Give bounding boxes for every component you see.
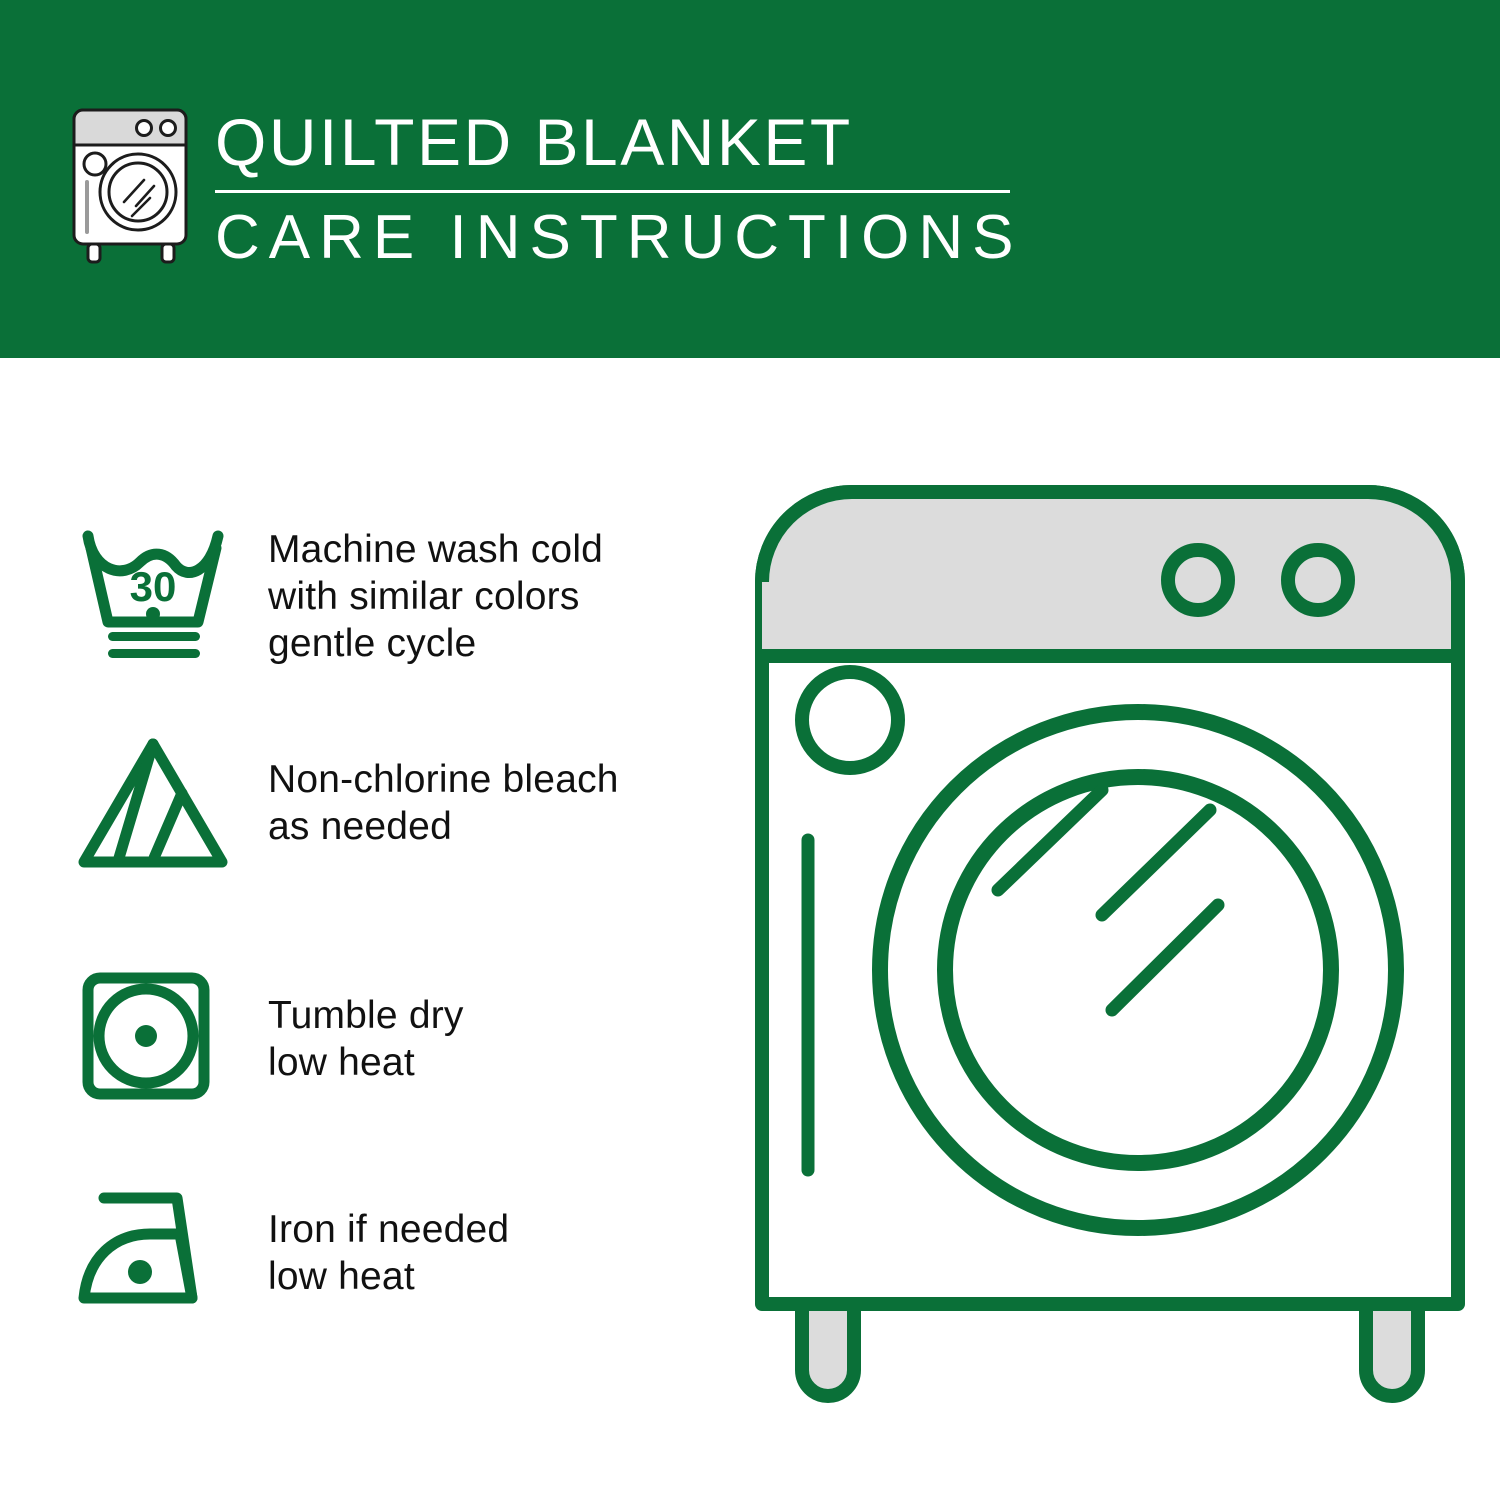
care-text-line: Non-chlorine bleach [268,756,619,803]
washing-machine-icon [62,104,200,264]
care-instruction-text: Machine wash cold with similar colors ge… [268,518,603,667]
care-instruction-text: Iron if needed low heat [268,1180,509,1300]
detergent-dispenser [802,672,898,768]
care-instruction-row: Tumble dry low heat [70,966,730,1106]
page-title: QUILTED BLANKET [215,104,1035,180]
header-text-block: QUILTED BLANKET CARE INSTRUCTIONS [215,104,1035,275]
title-divider [215,190,1010,193]
care-text-line: with similar colors [268,573,603,620]
tumble-dry-low-icon [70,966,240,1106]
care-text-line: Tumble dry [268,992,464,1039]
page-subtitle: CARE INSTRUCTIONS [215,201,1035,275]
care-instruction-text: Non-chlorine bleach as needed [268,730,619,850]
knob-left [1168,550,1228,610]
care-text-line: as needed [268,803,619,850]
knob-right [1288,550,1348,610]
header-band: QUILTED BLANKET CARE INSTRUCTIONS [0,0,1500,358]
non-chlorine-bleach-triangle-icon [70,730,240,878]
care-instruction-row: Non-chlorine bleach as needed [70,730,730,878]
care-instruction-text: Tumble dry low heat [268,966,464,1086]
leg-right [1366,1304,1418,1396]
front-load-washing-machine-illustration [740,470,1480,1460]
care-text-line: Iron if needed [268,1206,509,1253]
care-instructions-list: 30 Machine wash cold with similar colors… [0,358,740,1500]
care-text-line: low heat [268,1039,464,1086]
care-text-line: low heat [268,1253,509,1300]
leg-left [802,1304,854,1396]
wash-temperature-value: 30 [130,563,177,610]
care-instruction-row: Iron if needed low heat [70,1180,730,1320]
care-instruction-row: 30 Machine wash cold with similar colors… [70,518,730,667]
care-text-line: Machine wash cold [268,526,603,573]
iron-low-heat-icon [70,1180,240,1320]
drum-door-inner-ring [945,777,1331,1163]
wash-tub-30-gentle-icon: 30 [70,518,240,666]
care-text-line: gentle cycle [268,620,603,667]
